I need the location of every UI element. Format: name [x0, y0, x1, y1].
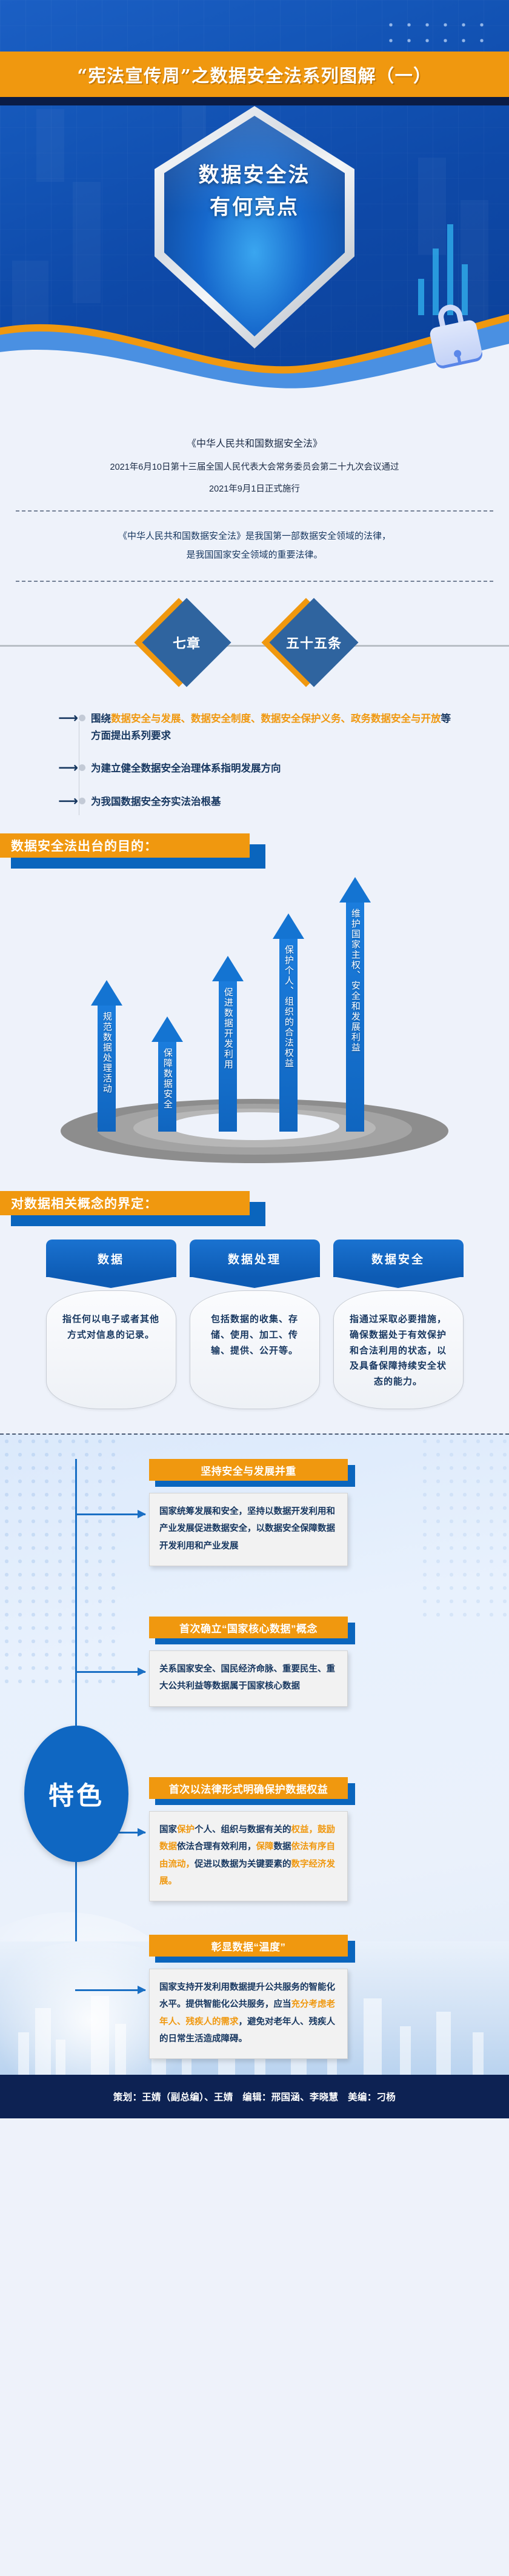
arrow-right-icon: ⟶ — [58, 710, 79, 726]
footer-credits-bar: 策划：王婧（副总编）、王婧 编辑：邢国涵、李晓慧 美编：刁杨 — [0, 2075, 509, 2118]
concept-card-text: 指通过采取必要措施，确保数据处于有效保护和合法利用的状态，以及具备保障持续安全状… — [347, 1312, 450, 1390]
concept-card-1: 数据指任何以电子或者其他方式对信息的记录。 — [46, 1240, 176, 1409]
footer-credits: 策划：王婧（副总编）、王婧 编辑：邢国涵、李晓慧 美编：刁杨 — [113, 2090, 396, 2103]
feature-card-text: 国家统筹发展和安全，坚持以数据开发利用和产业发展促进数据安全，以数据安全保障数据… — [159, 1503, 338, 1555]
badges-row: 七章 五十五条 — [0, 598, 509, 707]
feature-card-3: 首次以法律形式明确保护数据权益国家保护个人、组织与数据有关的权益，鼓励数据依法合… — [149, 1777, 348, 1901]
arrow-up-icon — [91, 980, 122, 1006]
title-underbar — [0, 97, 509, 105]
feature-card-title: 坚持安全与发展并重 — [201, 1463, 296, 1478]
feature-card-2: 首次确立“国家核心数据”概念关系国家安全、国民经济命脉、重要民生、重大公共利益等… — [149, 1617, 348, 1707]
law-passed-line: 2021年6月10日第十三届全国人民代表大会常务委员会第二十九次会议通过 — [36, 460, 473, 473]
features-section: 特色 坚持安全与发展并重国家统筹发展和安全，坚持以数据开发利用和产业发展促进数据… — [0, 1433, 509, 2118]
bullet-text: 围绕数据安全与发展、数据安全制度、数据安全保护义务、政务数据安全与开放等方面提出… — [91, 710, 461, 745]
arrow-label: 规范数据处理活动 — [91, 1007, 122, 1132]
concept-card-body: 指通过采取必要措施，确保数据处于有效保护和合法利用的状态，以及具备保障持续安全状… — [333, 1290, 464, 1409]
law-effective-line: 2021年9月1日正式施行 — [36, 482, 473, 495]
page-title-band: “宪法宣传周”之数据安全法系列图解（一） — [0, 52, 509, 97]
dot-texture-right — [418, 1435, 509, 1617]
list-item: ⟶ 为建立健全数据安全治理体系指明发展方向 — [58, 760, 461, 777]
feature-card-text: 关系国家安全、国民经济命脉、重要民生、重大公共利益等数据属于国家核心数据 — [159, 1661, 338, 1695]
concept-card-title-tag: 数据 — [46, 1240, 176, 1277]
bullet-dot-icon — [79, 798, 91, 804]
features-label: 特色 — [48, 1775, 104, 1812]
purpose-arrow-4: 保护个人、组织的合法权益 — [273, 913, 304, 1132]
feature-connector-1 — [75, 1513, 145, 1515]
arrow-label: 维护国家主权、安全和发展利益 — [339, 904, 371, 1132]
concept-card-body: 指任何以电子或者其他方式对信息的记录。 — [46, 1290, 176, 1409]
feature-card-header: 坚持安全与发展并重 — [149, 1459, 348, 1484]
badge-articles-label: 五十五条 — [282, 611, 345, 674]
arrow-up-icon — [151, 1016, 183, 1042]
badge-articles: 五十五条 — [282, 611, 345, 674]
feature-connector-2 — [75, 1671, 145, 1673]
section-title-concepts: 对数据相关概念的界定： — [11, 1194, 158, 1212]
concept-card-2: 数据处理包括数据的收集、存储、使用、加工、传输、提供、公开等。 — [190, 1240, 320, 1409]
feature-card-title: 首次确立“国家核心数据”概念 — [179, 1620, 318, 1635]
shield-text: 数据安全法 有何亮点 — [155, 159, 354, 223]
shield-line-1: 数据安全法 — [155, 159, 354, 192]
concept-card-3: 数据安全指通过采取必要措施，确保数据处于有效保护和合法利用的状态，以及具备保障持… — [333, 1240, 464, 1409]
purpose-arrow-chart: 规范数据处理活动保障数据安全促进数据开发利用保护个人、组织的合法权益维护国家主权… — [0, 877, 509, 1168]
concept-cards-row: 数据指任何以电子或者其他方式对信息的记录。数据处理包括数据的收集、存储、使用、加… — [0, 1240, 509, 1409]
concept-card-text: 指任何以电子或者其他方式对信息的记录。 — [60, 1312, 162, 1343]
feature-card-title: 首次以法律形式明确保护数据权益 — [169, 1781, 328, 1796]
concept-card-title: 数据处理 — [228, 1250, 281, 1267]
page-title: “宪法宣传周”之数据安全法系列图解（一） — [77, 62, 431, 87]
concept-card-title: 数据 — [98, 1250, 124, 1267]
summary-line-2: 是我国国家安全领域的重要法律。 — [42, 546, 467, 565]
law-name: 《中华人民共和国数据安全法》 — [36, 435, 473, 450]
arrow-right-icon: ⟶ — [58, 793, 79, 809]
section-header-purpose: 数据安全法出台的目的： — [0, 833, 509, 869]
key-points-list: ⟶ 围绕数据安全与发展、数据安全制度、数据安全保护义务、政务数据安全与开放等方面… — [0, 707, 509, 811]
arrow-label: 保护个人、组织的合法权益 — [273, 940, 304, 1132]
arrow-label: 促进数据开发利用 — [212, 983, 244, 1132]
hero-banner: “宪法宣传周”之数据安全法系列图解（一） 数据安全法 有何亮点 — [0, 0, 509, 418]
section-header-concepts: 对数据相关概念的界定： — [0, 1191, 509, 1226]
intro-summary: 《中华人民共和国数据安全法》是我国第一部数据安全领域的法律， 是我国国家安全领域… — [0, 527, 509, 565]
purpose-arrow-2: 保障数据安全 — [151, 1016, 183, 1132]
feature-card-title: 彰显数据“温度” — [211, 1938, 286, 1954]
bullet-dot-icon — [79, 764, 91, 771]
bullet-dot-icon — [79, 715, 91, 721]
feature-connector-4 — [75, 1989, 145, 1991]
concept-card-text: 包括数据的收集、存储、使用、加工、传输、提供、公开等。 — [204, 1312, 306, 1358]
list-item: ⟶ 为我国数据安全夯实法治根基 — [58, 793, 461, 810]
feature-card-header: 首次确立“国家核心数据”概念 — [149, 1617, 348, 1642]
concept-card-title: 数据安全 — [371, 1250, 425, 1267]
feature-card-1: 坚持安全与发展并重国家统筹发展和安全，坚持以数据开发利用和产业发展促进数据安全，… — [149, 1459, 348, 1566]
section-title-purpose: 数据安全法出台的目的： — [11, 836, 158, 855]
shield-line-2: 有何亮点 — [155, 192, 354, 224]
purpose-arrow-1: 规范数据处理活动 — [91, 980, 122, 1132]
features-label-badge: 特色 — [24, 1726, 128, 1862]
feature-card-header: 彰显数据“温度” — [149, 1935, 348, 1960]
badge-chapters-label: 七章 — [155, 611, 218, 674]
arrow-up-icon — [212, 956, 244, 981]
list-item: ⟶ 围绕数据安全与发展、数据安全制度、数据安全保护义务、政务数据安全与开放等方面… — [58, 710, 461, 745]
purpose-arrow-3: 促进数据开发利用 — [212, 956, 244, 1132]
concept-card-body: 包括数据的收集、存储、使用、加工、传输、提供、公开等。 — [190, 1290, 320, 1409]
bullet-text: 为建立健全数据安全治理体系指明发展方向 — [91, 760, 281, 777]
bullet-text: 为我国数据安全夯实法治根基 — [91, 793, 221, 810]
feature-card-body: 国家支持开发利用数据提升公共服务的智能化水平。提供智能化公共服务，应当充分考虑老… — [149, 1969, 348, 2059]
divider-dashed-1 — [16, 510, 493, 512]
feature-card-4: 彰显数据“温度”国家支持开发利用数据提升公共服务的智能化水平。提供智能化公共服务… — [149, 1935, 348, 2059]
concept-card-title-tag: 数据处理 — [190, 1240, 320, 1277]
arrow-up-icon — [273, 913, 304, 939]
arrow-right-icon: ⟶ — [58, 760, 79, 775]
feature-card-body: 国家统筹发展和安全，坚持以数据开发利用和产业发展促进数据安全，以数据安全保障数据… — [149, 1493, 348, 1566]
badge-chapters: 七章 — [155, 611, 218, 674]
infographic-page: “宪法宣传周”之数据安全法系列图解（一） 数据安全法 有何亮点 《中华人民共和国… — [0, 0, 509, 2576]
intro-block: 《中华人民共和国数据安全法》 2021年6月10日第十三届全国人民代表大会常务委… — [0, 418, 509, 495]
divider-dashed-2 — [16, 581, 493, 582]
badge-rule-line — [0, 645, 509, 647]
feature-card-text: 国家支持开发利用数据提升公共服务的智能化水平。提供智能化公共服务，应当充分考虑老… — [159, 1979, 338, 2047]
arrow-label: 保障数据安全 — [151, 1043, 183, 1132]
summary-line-1: 《中华人民共和国数据安全法》是我国第一部数据安全领域的法律， — [42, 527, 467, 546]
purpose-arrow-5: 维护国家主权、安全和发展利益 — [339, 877, 371, 1132]
feature-card-body: 国家保护个人、组织与数据有关的权益，鼓励数据依法合理有效利用，保障数据依法有序自… — [149, 1811, 348, 1901]
feature-card-text: 国家保护个人、组织与数据有关的权益，鼓励数据依法合理有效利用，保障数据依法有序自… — [159, 1821, 338, 1890]
arrow-up-icon — [339, 877, 371, 903]
feature-card-header: 首次以法律形式明确保护数据权益 — [149, 1777, 348, 1803]
concept-card-title-tag: 数据安全 — [333, 1240, 464, 1277]
dot-texture-left — [0, 1435, 115, 1689]
feature-card-body: 关系国家安全、国民经济命脉、重要民生、重大公共利益等数据属于国家核心数据 — [149, 1650, 348, 1707]
